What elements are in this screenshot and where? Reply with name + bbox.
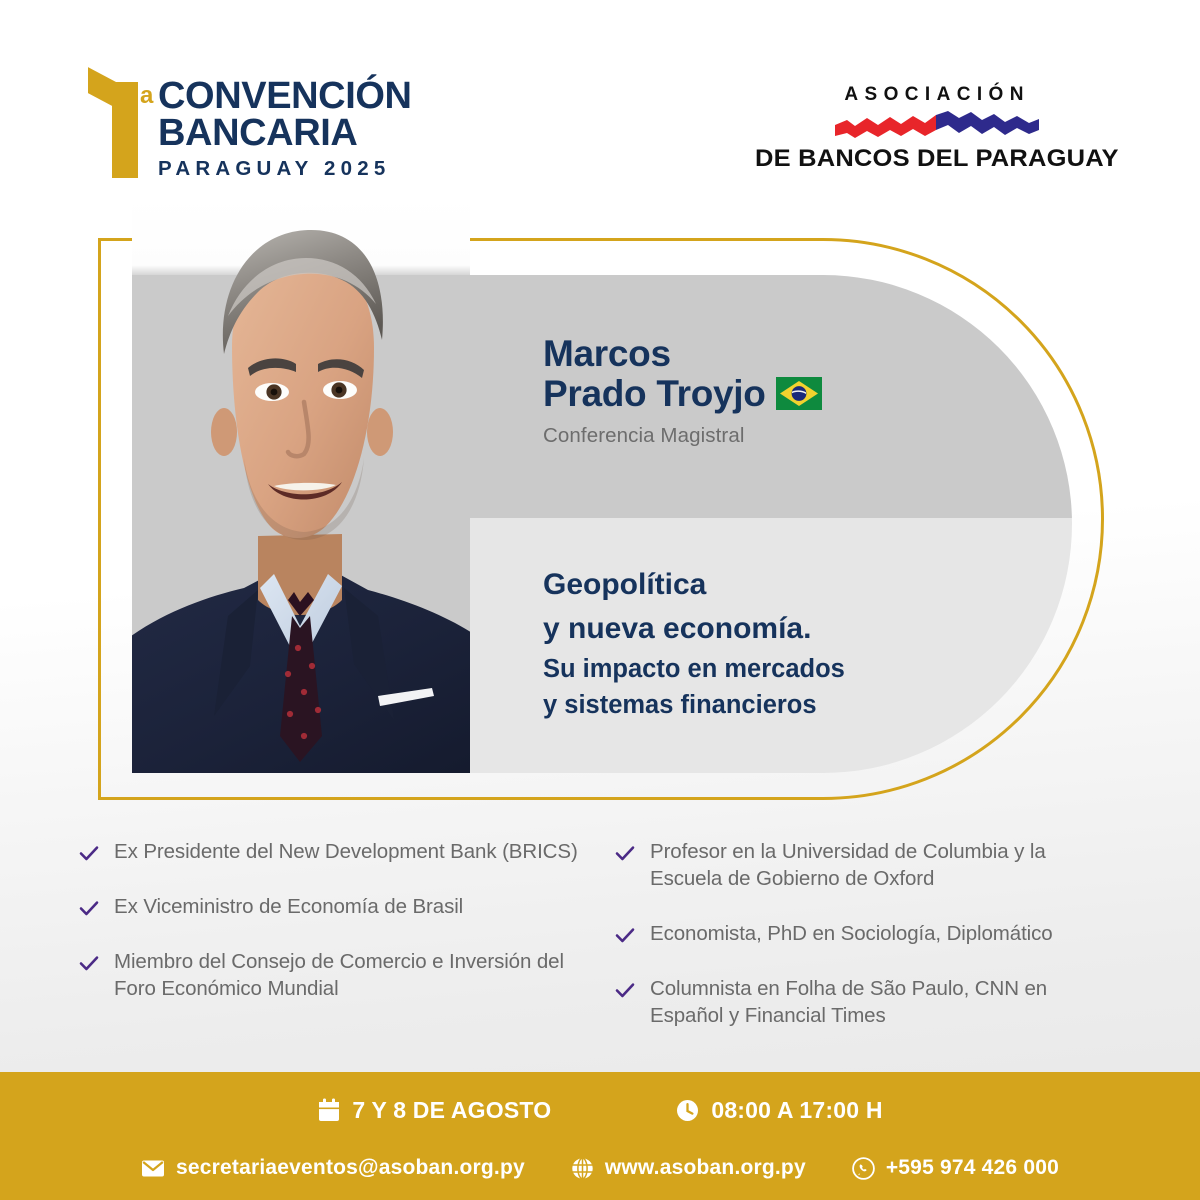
check-icon [614, 979, 636, 1001]
org-logo-line1: ASOCIACIÓN [762, 84, 1112, 106]
list-item: Profesor en la Universidad de Columbia y… [614, 838, 1122, 892]
talk-subtitle-line1: Su impacto en mercados [543, 651, 1063, 688]
portrait-illustration [132, 196, 470, 773]
event-time-text: 08:00 A 17:00 H [711, 1097, 882, 1124]
talk-title-block: Geopolítica y nueva economía. Su impacto… [543, 563, 1063, 724]
event-logo: a CONVENCIÓN BANCARIA PARAGUAY 2025 [88, 78, 412, 181]
credential-text: Ex Presidente del New Development Bank (… [114, 838, 578, 865]
list-item: Miembro del Consejo de Comercio e Invers… [78, 948, 586, 1002]
event-logo-line3: PARAGUAY 2025 [158, 157, 412, 181]
event-date: 7 Y 8 DE AGOSTO [317, 1097, 551, 1124]
speaker-photo [132, 196, 470, 773]
contact-phone-text: +595 974 426 000 [886, 1156, 1059, 1180]
credential-text: Economista, PhD en Sociología, Diplomáti… [650, 920, 1053, 947]
credentials: Ex Presidente del New Development Bank (… [78, 838, 1122, 1057]
list-item: Columnista en Folha de São Paulo, CNN en… [614, 975, 1122, 1029]
globe-icon [571, 1157, 594, 1180]
calendar-icon [317, 1098, 341, 1123]
credential-text: Ex Viceministro de Economía de Brasil [114, 893, 463, 920]
talk-title-line2: y nueva economía. [543, 607, 1063, 651]
check-icon [78, 952, 100, 974]
talk-subtitle-line2: y sistemas financieros [543, 687, 1063, 724]
footer-schedule-row: 7 Y 8 DE AGOSTO 08:00 A 17:00 H [0, 1072, 1200, 1140]
credential-text: Columnista en Folha de São Paulo, CNN en… [650, 975, 1122, 1029]
talk-title-line1: Geopolítica [543, 563, 1063, 607]
list-item: Economista, PhD en Sociología, Diplomáti… [614, 920, 1122, 947]
org-logo: ASOCIACIÓN DE BANCOS DEL PARAGUAY [762, 84, 1112, 173]
credential-text: Profesor en la Universidad de Columbia y… [650, 838, 1122, 892]
numeral-one-stem [112, 82, 138, 178]
check-icon [614, 842, 636, 864]
footer-contact-row: secretariaeventos@asoban.org.py www.asob… [0, 1140, 1200, 1196]
event-logo-words: CONVENCIÓN BANCARIA PARAGUAY 2025 [158, 78, 412, 181]
brazil-flag-icon [776, 377, 822, 410]
event-logo-line1: CONVENCIÓN [158, 78, 412, 115]
list-item: Ex Viceministro de Economía de Brasil [78, 893, 586, 920]
contact-email[interactable]: secretariaeventos@asoban.org.py [141, 1156, 525, 1180]
speaker-role: Conferencia Magistral [543, 424, 1063, 448]
credential-text: Miembro del Consejo de Comercio e Invers… [114, 948, 586, 1002]
check-icon [78, 842, 100, 864]
speaker-name: Marcos Prado Troyjo [543, 334, 1063, 414]
speaker-block: Marcos Prado Troyjo Conferencia Magistra… [543, 334, 1063, 448]
list-item: Ex Presidente del New Development Bank (… [78, 838, 586, 865]
envelope-icon [141, 1159, 165, 1178]
org-logo-line2: DE BANCOS DEL PARAGUAY [755, 145, 1119, 173]
contact-website-text: www.asoban.org.py [605, 1156, 806, 1180]
clock-icon [675, 1098, 700, 1123]
event-logo-line2: BANCARIA [158, 115, 412, 152]
speaker-name-line1: Marcos [543, 334, 1063, 374]
poster-canvas: a CONVENCIÓN BANCARIA PARAGUAY 2025 ASOC… [0, 0, 1200, 1200]
check-icon [78, 897, 100, 919]
ordinal-suffix: a [140, 84, 153, 108]
credentials-right-column: Profesor en la Universidad de Columbia y… [614, 838, 1122, 1057]
check-icon [614, 924, 636, 946]
ordinal-numeral: a [88, 82, 150, 178]
contact-phone[interactable]: +595 974 426 000 [852, 1156, 1059, 1180]
whatsapp-icon [852, 1157, 875, 1180]
event-date-text: 7 Y 8 DE AGOSTO [352, 1097, 551, 1124]
speaker-name-line2: Prado Troyjo [543, 374, 766, 414]
event-time: 08:00 A 17:00 H [675, 1097, 882, 1124]
contact-email-text: secretariaeventos@asoban.org.py [176, 1156, 525, 1180]
footer-bar: 7 Y 8 DE AGOSTO 08:00 A 17:00 H secretar… [0, 1072, 1200, 1200]
contact-website[interactable]: www.asoban.org.py [571, 1156, 806, 1180]
org-logo-wave-icon [833, 109, 1041, 139]
credentials-left-column: Ex Presidente del New Development Bank (… [78, 838, 586, 1057]
